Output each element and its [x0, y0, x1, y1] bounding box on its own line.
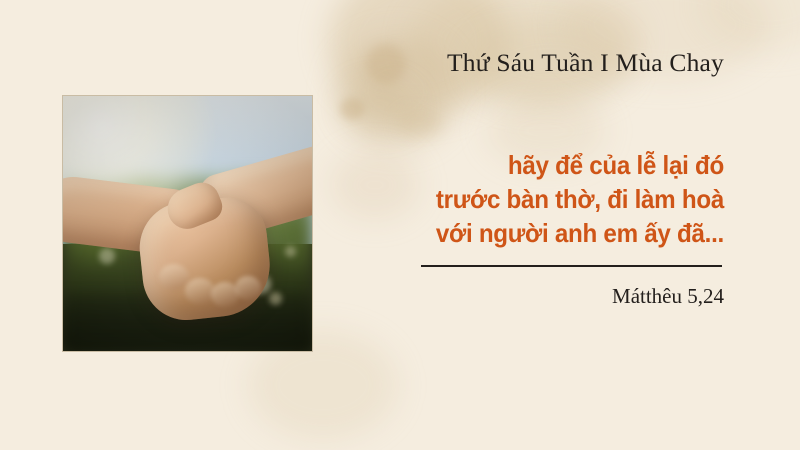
quote-line-2: trước bàn thờ, đi làm hoà: [367, 182, 724, 216]
quote-line-1: hãy để của lễ lại đó: [367, 148, 724, 182]
text-panel: Thứ Sáu Tuần I Mùa Chay hãy để của lễ lạ…: [340, 0, 724, 450]
quote-line-3: với người anh em ấy đã...: [367, 216, 724, 250]
photo-vignette: [63, 96, 312, 351]
photo-content: [63, 96, 312, 351]
scripture-card: Thứ Sáu Tuần I Mùa Chay hãy để của lễ lạ…: [0, 0, 800, 450]
handshake-photo: [62, 95, 313, 352]
scripture-reference: Mátthêu 5,24: [340, 284, 724, 309]
divider-rule: [421, 265, 722, 267]
scripture-quote: hãy để của lễ lại đó trước bàn thờ, đi l…: [367, 148, 724, 250]
page-title: Thứ Sáu Tuần I Mùa Chay: [340, 48, 724, 78]
